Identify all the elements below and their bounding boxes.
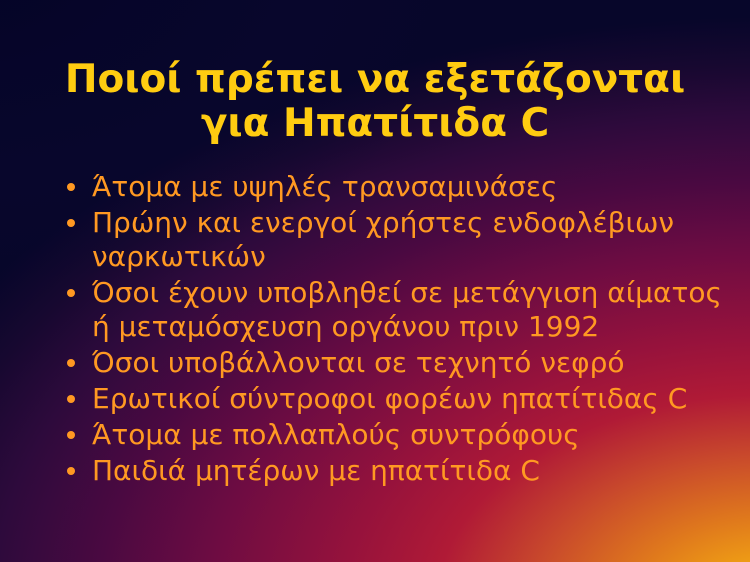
bullet-item: Όσοι υποβάλλονται σε τεχνητό νεφρό [58, 346, 736, 380]
bullet-dot-icon [67, 431, 75, 439]
bullet-item: Άτομα με υψηλές τρανσαμινάσες [58, 170, 736, 204]
bullet-dot-icon [67, 183, 75, 191]
bullet-item-label: Άτομα με πολλαπλούς συντρόφους [92, 418, 736, 452]
bullet-item: Ερωτικοί σύντροφοι φορέων ηπατίτιδας C [58, 382, 736, 416]
bullet-item: Πρώην και ενεργοί χρήστες ενδοφλέβιων να… [58, 206, 736, 274]
bullet-item: Άτομα με πολλαπλούς συντρόφους [58, 418, 736, 452]
bullet-dot-icon [67, 467, 75, 475]
bullet-dot-icon [67, 359, 75, 367]
bullet-item: Όσοι έχουν υποβληθεί σε μετάγγιση αίματο… [58, 276, 736, 344]
bullet-item-label: Όσοι υποβάλλονται σε τεχνητό νεφρό [92, 346, 736, 380]
bullet-item-label: Ερωτικοί σύντροφοι φορέων ηπατίτιδας C [92, 382, 736, 416]
bullet-item-label: Όσοι έχουν υποβληθεί σε μετάγγιση αίματο… [92, 276, 736, 344]
slide-content: Ποιοί πρέπει να εξετάζονται για Ηπατίτιδ… [0, 0, 750, 562]
bullet-dot-icon [67, 395, 75, 403]
bullet-item-label: Παιδιά μητέρων με ηπατίτιδα C [92, 454, 736, 488]
bullet-dot-icon [67, 289, 75, 297]
presentation-slide: Ποιοί πρέπει να εξετάζονται για Ηπατίτιδ… [0, 0, 750, 562]
bullet-list: Άτομα με υψηλές τρανσαμινάσεςΠρώην και ε… [58, 170, 736, 490]
bullet-dot-icon [67, 219, 75, 227]
bullet-item-label: Άτομα με υψηλές τρανσαμινάσες [92, 170, 736, 204]
slide-title: Ποιοί πρέπει να εξετάζονται για Ηπατίτιδ… [0, 58, 750, 146]
bullet-item-label: Πρώην και ενεργοί χρήστες ενδοφλέβιων να… [92, 206, 736, 274]
bullet-item: Παιδιά μητέρων με ηπατίτιδα C [58, 454, 736, 488]
